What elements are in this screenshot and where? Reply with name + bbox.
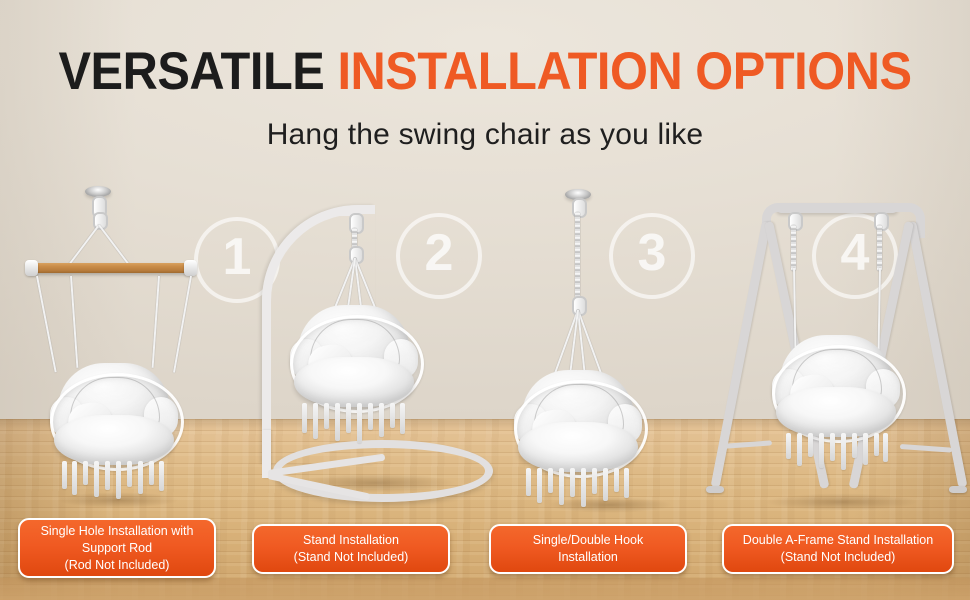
caption-badge-2[interactable]: Stand Installation (Stand Not Included) xyxy=(252,524,450,574)
caption-badge-1[interactable]: Single Hole Installation with Support Ro… xyxy=(18,518,216,578)
scene-4-a-frame-stand xyxy=(0,0,970,520)
chair-seat-cushion xyxy=(776,387,896,437)
a-frame-foot-1 xyxy=(706,486,724,493)
caption-badge-4[interactable]: Double A-Frame Stand Installation (Stand… xyxy=(722,524,954,574)
a-frame-chain-left xyxy=(791,225,796,271)
floor-foreground-band xyxy=(0,578,970,600)
hammock-swing-chair xyxy=(770,335,902,447)
installation-options-infographic: VERSATILE INSTALLATION OPTIONS Hang the … xyxy=(0,0,970,600)
chair-fringe-tassels xyxy=(782,433,890,475)
a-frame-brace-right xyxy=(900,444,952,453)
stand-floor-shadow xyxy=(736,490,948,514)
a-frame-foot-3 xyxy=(949,486,967,493)
caption-badge-3[interactable]: Single/Double Hook Installation xyxy=(489,524,687,574)
a-frame-chain-right xyxy=(877,225,882,271)
